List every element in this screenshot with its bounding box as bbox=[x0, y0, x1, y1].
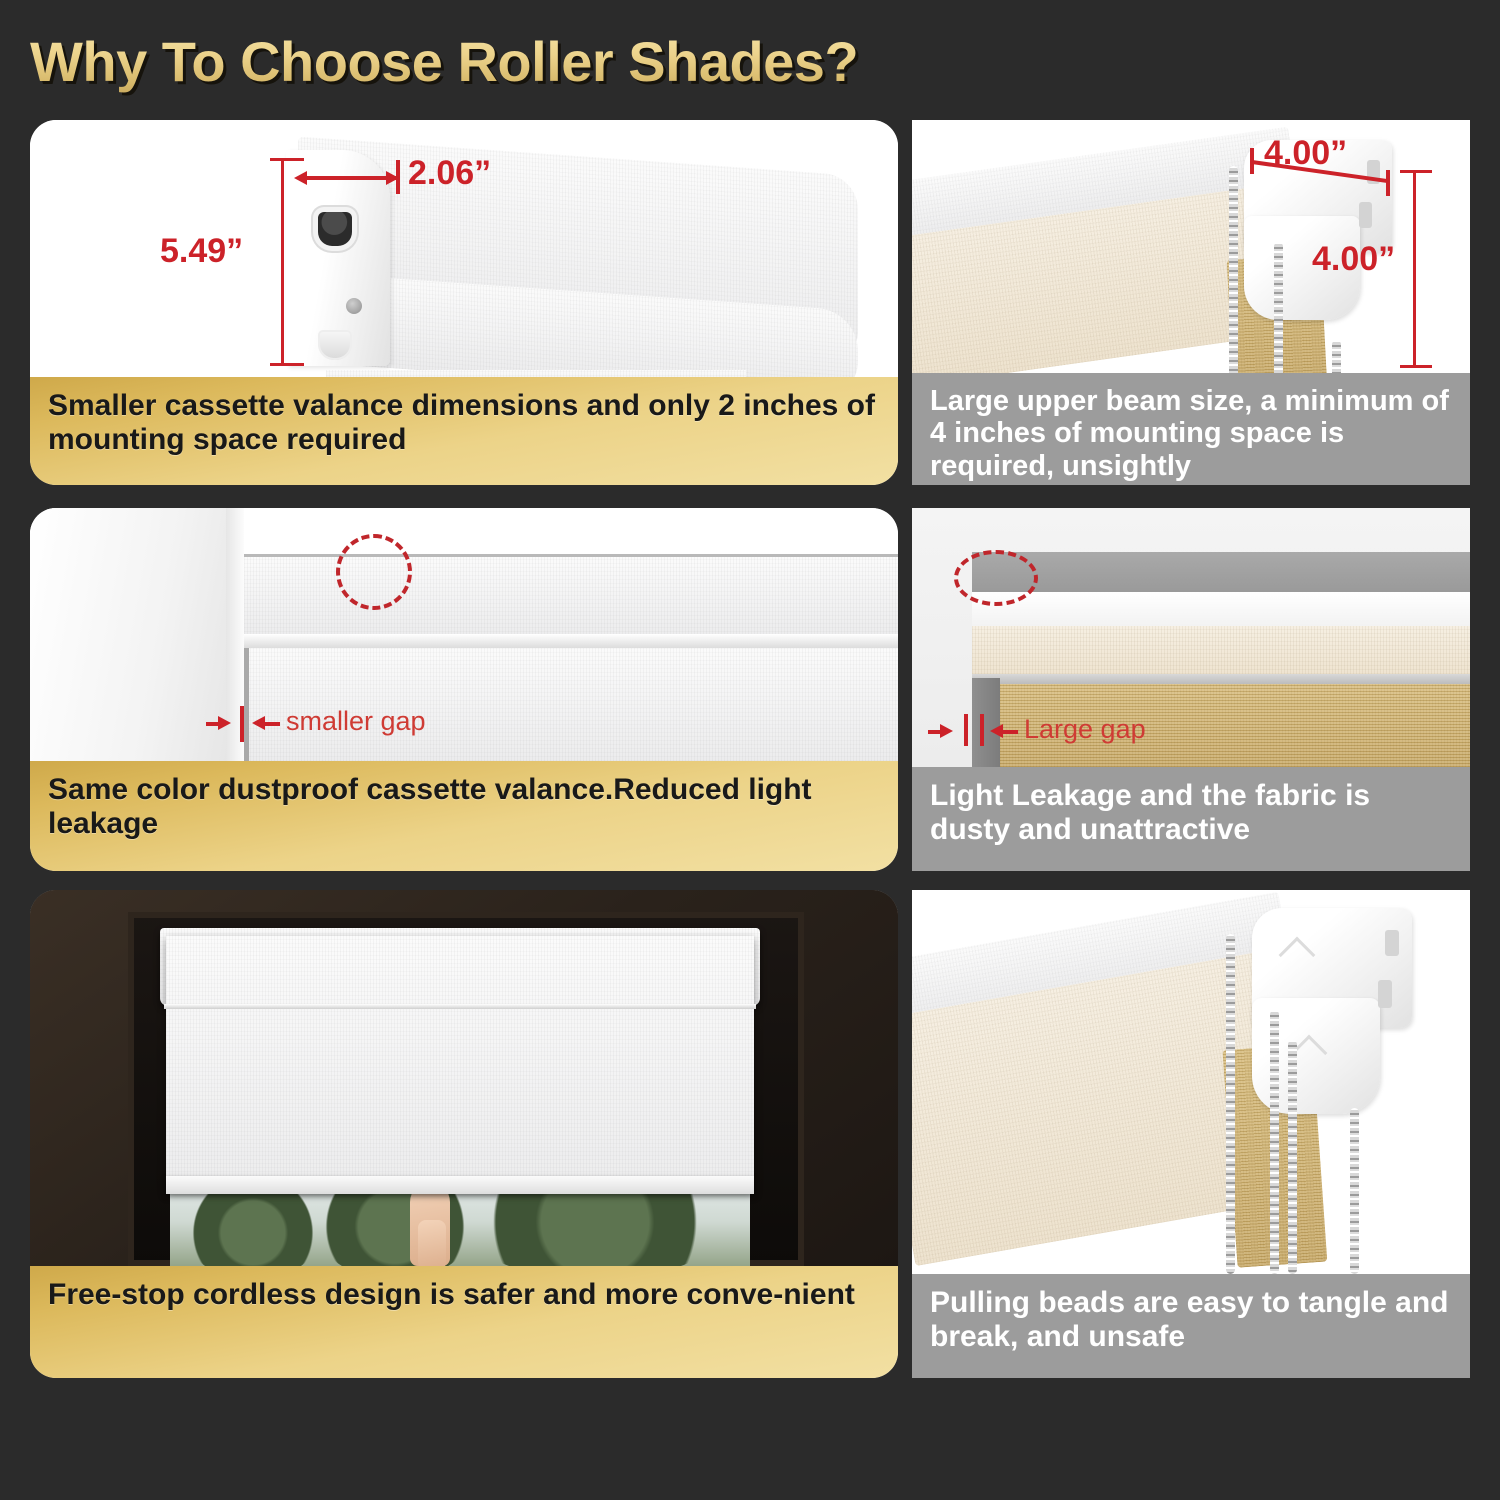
bracket-notch-icon bbox=[1385, 930, 1399, 956]
beam-width-tick-right bbox=[1386, 170, 1390, 196]
panel-large-upper-beam: 4.00” 4.00” Large upper beam size, a min… bbox=[912, 120, 1470, 485]
panel-light-leakage-dusty-fabric: Large gap Light Leakage and the fabric i… bbox=[912, 508, 1470, 871]
large-gap-tick-1 bbox=[964, 714, 968, 746]
window-glass-view bbox=[170, 1190, 750, 1270]
fabric-left-shadow-edge bbox=[972, 678, 1000, 767]
height-dim-line bbox=[281, 158, 284, 366]
valance-lip bbox=[244, 634, 898, 648]
bracket-notch-icon-2 bbox=[1378, 980, 1392, 1008]
page-title: Why To Choose Roller Shades? bbox=[30, 24, 1130, 100]
large-gap-arrow-stem bbox=[928, 730, 942, 734]
beam-bottom-rail bbox=[972, 674, 1470, 684]
hand-arm bbox=[418, 1220, 446, 1270]
panel-pulling-beads-tangle: Pulling beads are easy to tangle and bre… bbox=[912, 890, 1470, 1378]
width-dim-tick bbox=[396, 160, 400, 194]
smaller-gap-label: smaller gap bbox=[286, 706, 426, 737]
beam-height-tick-bottom bbox=[1400, 365, 1432, 368]
panel-caption-large-upper-beam: Large upper beam size, a minimum of 4 in… bbox=[912, 373, 1470, 485]
smaller-gap-arrow-stem-2 bbox=[264, 722, 280, 726]
height-dim-tick-bottom bbox=[270, 363, 304, 366]
width-dim-arrow-left bbox=[294, 171, 307, 185]
large-beam-photo: 4.00” 4.00” bbox=[912, 120, 1470, 373]
beam-width-tick-left bbox=[1250, 148, 1254, 174]
panel-dustproof-cassette-valance: smaller gap Same color dustproof cassett… bbox=[30, 508, 898, 871]
beam-cream-band bbox=[972, 626, 1470, 678]
panel-caption-pulling-beads-tangle: Pulling beads are easy to tangle and bre… bbox=[912, 1274, 1470, 1378]
shade-fabric-below bbox=[244, 648, 898, 761]
panel-caption-smaller-cassette-valance: Smaller cassette valance dimensions and … bbox=[30, 377, 898, 485]
pull-bead-chain-4 bbox=[1350, 1108, 1359, 1274]
panel-caption-free-stop-cordless-design: Free-stop cordless design is safer and m… bbox=[30, 1266, 898, 1378]
panel-free-stop-cordless-design: Free-stop cordless design is safer and m… bbox=[30, 890, 898, 1378]
panel-caption-dustproof-cassette-valance: Same color dustproof cassette valance.Re… bbox=[30, 761, 898, 871]
height-dim-label: 5.49” bbox=[160, 232, 243, 271]
cordless-window-photo bbox=[30, 890, 898, 1266]
smaller-gap-photo: smaller gap bbox=[30, 508, 898, 761]
tree-right bbox=[470, 1190, 720, 1270]
beam-top-shadow bbox=[972, 552, 1470, 592]
comparison-grid: 2.06” 5.49” Smaller cassette valance dim… bbox=[0, 0, 1500, 1500]
infographic-page: Why To Choose Roller Shades? Why To Choo… bbox=[0, 0, 1500, 1500]
bead-chain-middle bbox=[1274, 242, 1283, 378]
large-gap-arrow-stem-2 bbox=[1002, 730, 1018, 734]
beam-height-label: 4.00” bbox=[1312, 240, 1395, 279]
large-gap-highlight-circle bbox=[954, 550, 1038, 606]
beam-height-tick-top bbox=[1400, 170, 1432, 173]
pull-bead-chain-1 bbox=[1226, 934, 1235, 1274]
panel-smaller-cassette-valance: 2.06” 5.49” Smaller cassette valance dim… bbox=[30, 120, 898, 485]
pull-bead-chain-3 bbox=[1288, 1040, 1297, 1274]
smaller-gap-tick bbox=[240, 706, 244, 742]
cordless-shade-fabric bbox=[166, 936, 754, 1192]
large-gap-photo: Large gap bbox=[912, 508, 1470, 767]
beam-height-dim-line bbox=[1413, 170, 1416, 368]
width-dim-label: 2.06” bbox=[408, 154, 491, 193]
valance-screw-icon bbox=[346, 298, 362, 314]
panel-caption-light-leakage-dusty-fabric: Light Leakage and the fabric is dusty an… bbox=[912, 767, 1470, 871]
bead-chain-left bbox=[1229, 166, 1238, 378]
cordless-bottom-rail bbox=[166, 1176, 754, 1194]
valance-mechanism-slot bbox=[318, 212, 352, 246]
top-gap-highlight-circle bbox=[336, 534, 412, 610]
large-gap-tick-2 bbox=[980, 714, 984, 746]
cassette-valance-photo: 2.06” 5.49” bbox=[30, 120, 898, 388]
pulling-beads-photo bbox=[912, 890, 1470, 1274]
shade-left-edge bbox=[244, 648, 249, 761]
smaller-gap-arrow-stem bbox=[206, 722, 222, 726]
beam-width-label: 4.00” bbox=[1264, 134, 1347, 173]
large-gap-label: Large gap bbox=[1024, 714, 1146, 745]
valance-bottom-clip bbox=[318, 330, 352, 360]
valance-seam-line bbox=[164, 1004, 756, 1009]
tree-left bbox=[188, 1190, 318, 1270]
width-dim-line bbox=[300, 176, 398, 180]
bracket-slot-icon-2 bbox=[1359, 202, 1372, 228]
pull-bead-chain-2 bbox=[1270, 1010, 1279, 1274]
height-dim-tick-top bbox=[270, 158, 304, 161]
